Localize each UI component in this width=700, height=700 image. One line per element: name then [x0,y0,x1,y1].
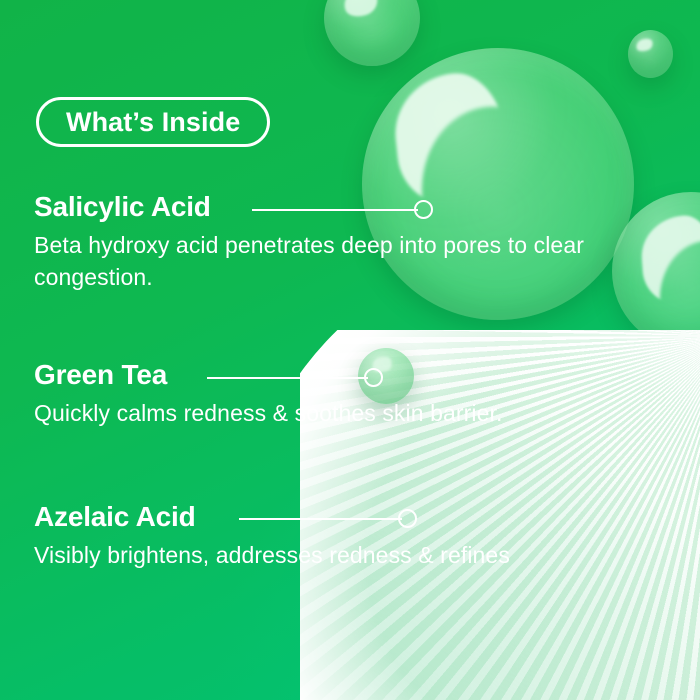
callout-line-green-tea [207,377,368,379]
ingredient-description: Visibly brightens, addresses redness & r… [34,539,510,571]
bubble-highlight [634,36,654,53]
callout-dot-icon-azelaic-acid [398,509,417,528]
bubble-highlight [390,69,513,210]
callout-dot-icon-salicylic-acid [414,200,433,219]
callout-line-azelaic-acid [239,518,402,520]
bubble-highlight [341,0,381,21]
ingredient-description: Beta hydroxy acid penetrates deep into p… [34,229,700,293]
ingredient-description: Quickly calms redness & soothes skin bar… [34,397,503,429]
ingredient-item-azelaic-acid: Azelaic Acid Visibly brightens, addresse… [34,500,510,571]
whats-inside-label: What’s Inside [66,107,240,138]
ingredient-item-salicylic-acid: Salicylic Acid Beta hydroxy acid penetra… [34,190,700,293]
gel-bubble-top-icon [324,0,420,66]
ingredient-name: Salicylic Acid [34,190,700,224]
ingredient-name: Green Tea [34,358,503,392]
callout-line-salicylic-acid [252,209,418,211]
product-ingredients-card: What’s Inside Salicylic Acid Beta hydrox… [0,0,700,700]
ingredient-name: Azelaic Acid [34,500,510,534]
whats-inside-badge: What’s Inside [36,97,270,147]
gel-bubble-top-right-icon [628,30,673,78]
callout-dot-icon-green-tea [364,368,383,387]
ingredient-item-green-tea: Green Tea Quickly calms redness & soothe… [34,358,503,429]
